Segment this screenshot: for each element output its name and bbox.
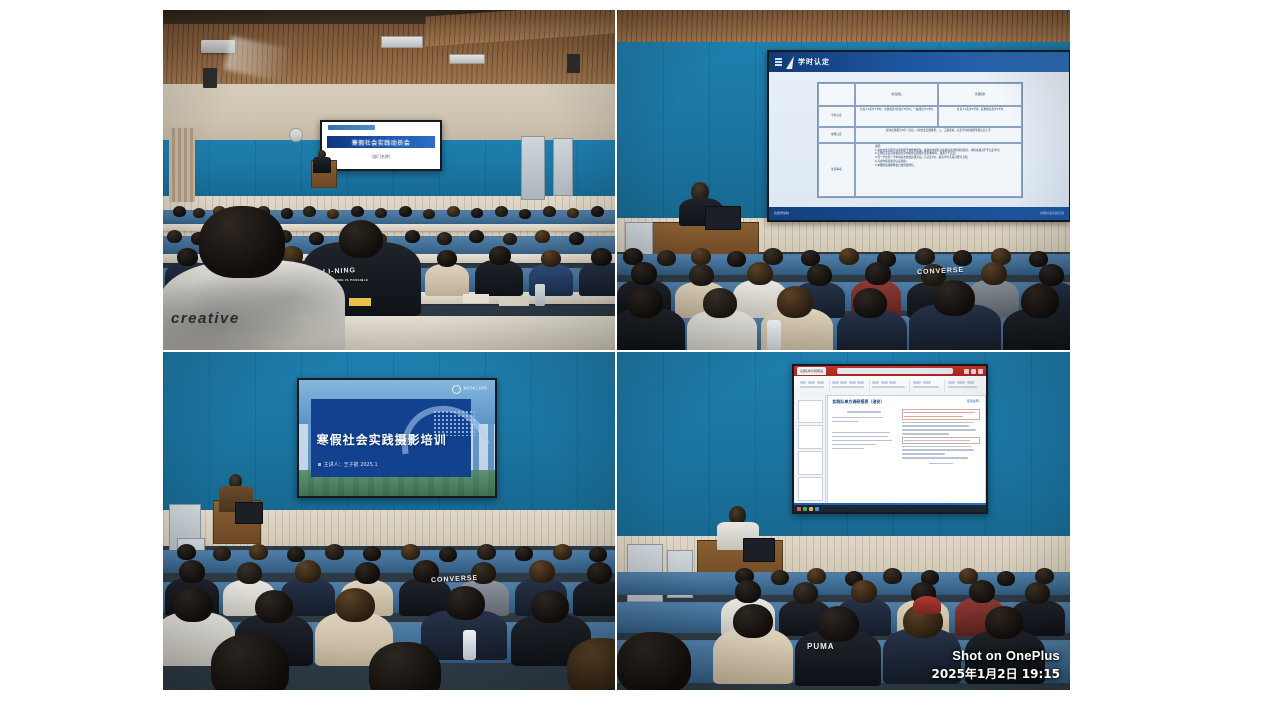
slide-banner-text: 寒假社会实践动员会 bbox=[327, 136, 436, 148]
page-thumbnail[interactable] bbox=[798, 451, 823, 475]
desk-bottle bbox=[535, 284, 545, 306]
window-curtain bbox=[169, 128, 195, 202]
audience-foreground-head bbox=[211, 634, 289, 690]
wall-speaker-left bbox=[203, 68, 217, 88]
desk-bottle bbox=[463, 630, 476, 660]
page-thumbnail[interactable] bbox=[798, 425, 823, 449]
document-column-left bbox=[832, 411, 895, 451]
photo-collage: 寒假社会实践动员会 （部门名称） bbox=[163, 10, 1070, 690]
audience-area: LI-NING ANYTHING IS POSSIBLE creative bbox=[163, 206, 615, 350]
desk-bottle bbox=[767, 320, 781, 350]
logo-mark-icon bbox=[452, 385, 461, 394]
wall-speaker-right bbox=[567, 54, 580, 73]
presenter-body bbox=[313, 157, 331, 173]
jacket-brand-creative: creative bbox=[171, 310, 240, 327]
slide-footer-right: 寒假社会实践宣讲 bbox=[1040, 211, 1064, 215]
document-page[interactable]: 实践队单方调研报表（淮安） 使用说明 bbox=[827, 395, 986, 505]
slide-photography-training: 湖北汽车工业学院 寒假社会实践摄影培训 主讲人：王子航 2025.1 bbox=[299, 380, 495, 496]
app-ribbon[interactable] bbox=[794, 376, 986, 396]
table-col-header-1: 重点团队 bbox=[855, 83, 939, 106]
desk-paper bbox=[463, 294, 489, 303]
document-editor: 实践队单位调研报表 bbox=[794, 366, 986, 512]
side-door-2 bbox=[553, 138, 573, 196]
table-cell-notes: 说明： 1.参加社会实践活动需按照学校要求报备，提前提交团队立项申请表并经审核通… bbox=[855, 143, 1022, 198]
app-titlebar: 实践队单位调研报表 bbox=[794, 366, 986, 376]
panel-bottom-right[interactable]: 实践队单位调研报表 bbox=[617, 352, 1070, 690]
projection-screen[interactable]: 学时认定 重点团队 普通团队 学时认定 负责人1名计7学时；主要成员2名各计5学… bbox=[767, 50, 1070, 222]
desk-paper-yellow bbox=[349, 298, 371, 306]
camera-watermark: Shot on OnePlus 2025年1月2日 19:15 bbox=[932, 648, 1060, 682]
watermark-brand: Shot on OnePlus bbox=[932, 648, 1060, 663]
slide-table: 重点团队 普通团队 学时认定 负责人1名计7学时；主要成员2名各计5学时；一般成… bbox=[817, 82, 1023, 198]
audience-person-beanie bbox=[913, 596, 941, 614]
table-row-label: 学时认定 bbox=[818, 106, 855, 127]
jacket-brand-puma: PUMA bbox=[807, 642, 835, 651]
menu-icon bbox=[775, 58, 782, 65]
table-cell: 负责人1名计7学时；主要成员2名各计5学时；一般成员计3学时 bbox=[855, 106, 939, 127]
slide-footer: 校团委编制 寒假社会实践宣讲 bbox=[769, 207, 1069, 220]
table-cell: 负责人1名计5学时；其他成员各计3学时 bbox=[938, 106, 1022, 127]
document-title: 实践队单方调研报表（淮安） bbox=[832, 399, 884, 405]
slide-footer-left: 校团委编制 bbox=[774, 211, 789, 215]
table-cell-wide: 提交实践报告1份／队伍，1项社会实践成果，二、三级奖项，认定学时按成果等级认定上… bbox=[855, 127, 1022, 143]
document-thumbnail-pane[interactable] bbox=[794, 395, 826, 503]
page-thumbnail[interactable] bbox=[798, 400, 823, 424]
university-logo: 湖北汽车工业学院 bbox=[452, 385, 487, 394]
audience-foreground-head-2 bbox=[369, 642, 441, 690]
projection-screen[interactable]: 寒假社会实践动员会 （部门名称） bbox=[320, 120, 442, 171]
panel-bottom-left[interactable]: 湖北汽车工业学院 寒假社会实践摄影培训 主讲人：王子航 2025.1 bbox=[163, 352, 615, 690]
panel-top-right[interactable]: 学时认定 重点团队 普通团队 学时认定 负责人1名计7学时；主要成员2名各计5学… bbox=[617, 10, 1070, 350]
logo-text: 湖北汽车工业学院 bbox=[463, 387, 487, 391]
watermark-timestamp: 2025年1月2日 19:15 bbox=[932, 665, 1060, 682]
audience-person-foreground-head bbox=[199, 206, 285, 278]
table-corner bbox=[818, 83, 855, 106]
screenshot-canvas: 寒假社会实践动员会 （部门名称） bbox=[0, 0, 1280, 720]
slide-main-title: 寒假社会实践摄影培训 bbox=[317, 431, 447, 448]
side-door bbox=[521, 136, 545, 200]
lectern-monitor bbox=[705, 206, 741, 230]
lectern-monitor bbox=[743, 538, 775, 562]
page-thumbnail[interactable] bbox=[798, 477, 823, 501]
desk-paper-2 bbox=[499, 296, 529, 306]
ceiling-light-panel-2 bbox=[449, 54, 485, 64]
slide-banner: 寒假社会实践动员会 （部门名称） bbox=[322, 122, 440, 169]
slide-banner-band: 寒假社会实践动员会 bbox=[327, 136, 436, 148]
lectern-monitor bbox=[235, 502, 263, 524]
slide-credit-hours: 学时认定 重点团队 普通团队 学时认定 负责人1名计7学时；主要成员2名各计5学… bbox=[769, 52, 1069, 220]
os-taskbar[interactable] bbox=[794, 505, 986, 512]
slash-decor-icon bbox=[786, 56, 794, 69]
table-col-header-2: 普通团队 bbox=[938, 83, 1022, 106]
audience-area: CONVERSE bbox=[617, 246, 1070, 350]
projection-screen[interactable]: 湖北汽车工业学院 寒假社会实践摄影培训 主讲人：王子航 2025.1 bbox=[297, 378, 497, 498]
audience-foreground-head bbox=[617, 632, 691, 690]
table-row-label: 注意事项 bbox=[818, 143, 855, 198]
ceiling-light-panel bbox=[381, 36, 423, 48]
app-tab[interactable]: 实践队单位调研报表 bbox=[797, 367, 826, 374]
slide-header: 学时认定 bbox=[769, 52, 1069, 72]
bullet-icon bbox=[318, 463, 321, 466]
table-row-label: 成果认定 bbox=[818, 127, 855, 143]
app-search-bar[interactable] bbox=[837, 368, 953, 374]
window-controls[interactable] bbox=[964, 369, 983, 374]
projection-screen[interactable]: 实践队单位调研报表 bbox=[792, 364, 988, 514]
document-column-right bbox=[902, 409, 981, 464]
panel-top-left[interactable]: 寒假社会实践动员会 （部门名称） bbox=[163, 10, 615, 350]
audience-area: CONVERSE bbox=[163, 538, 615, 690]
slide-logo-bar bbox=[328, 125, 375, 131]
document-badge: 使用说明 bbox=[967, 399, 979, 403]
slide-presenter: 主讲人：王子航 2025.1 bbox=[318, 461, 378, 468]
slide-header-title: 学时认定 bbox=[798, 57, 830, 67]
slide-banner-subtext: （部门名称） bbox=[322, 154, 440, 160]
wall-clock bbox=[289, 128, 303, 142]
